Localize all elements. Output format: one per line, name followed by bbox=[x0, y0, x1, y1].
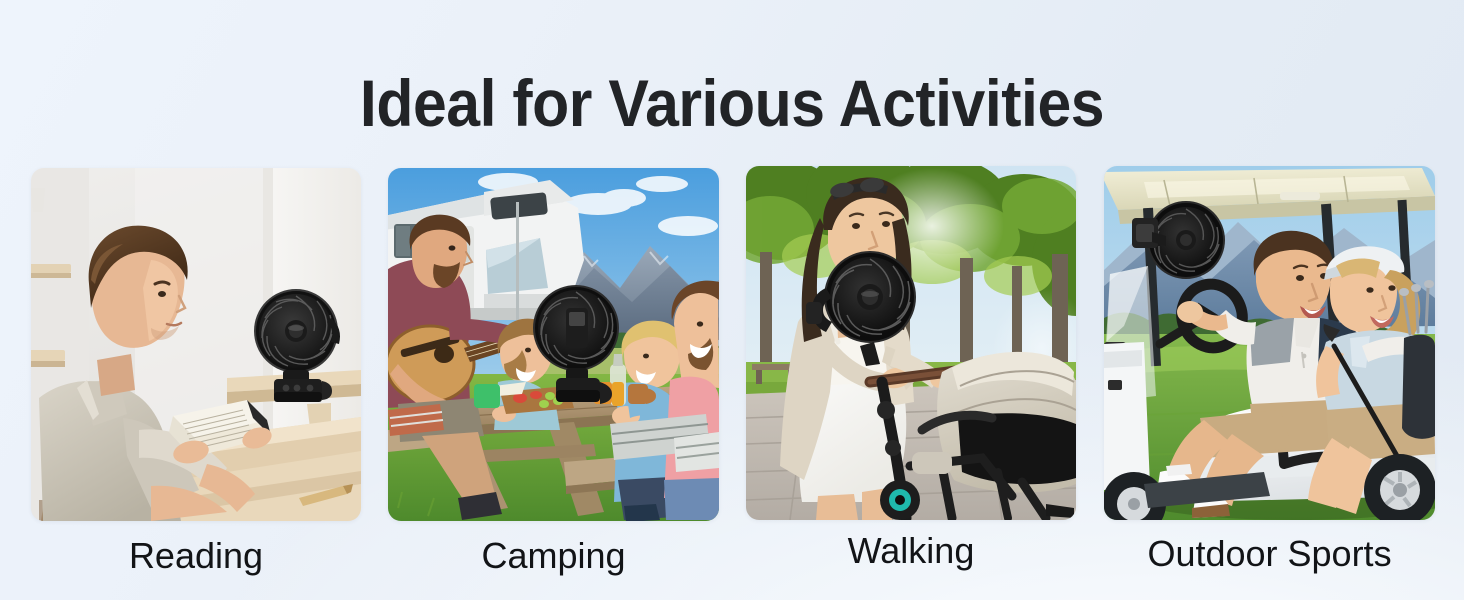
activity-caption-camping: Camping bbox=[388, 535, 719, 577]
activity-card-grid: Reading bbox=[0, 0, 1464, 600]
activity-image-walking[interactable] bbox=[746, 166, 1076, 520]
activity-caption-outdoor-sports: Outdoor Sports bbox=[1104, 533, 1435, 575]
activity-image-camping[interactable] bbox=[388, 168, 719, 521]
activities-section: Ideal for Various Activities bbox=[0, 0, 1464, 600]
activity-caption-reading: Reading bbox=[31, 535, 361, 577]
activity-image-outdoor-sports[interactable] bbox=[1104, 166, 1435, 520]
activity-image-reading[interactable] bbox=[31, 168, 361, 521]
activity-caption-walking: Walking bbox=[746, 530, 1076, 572]
